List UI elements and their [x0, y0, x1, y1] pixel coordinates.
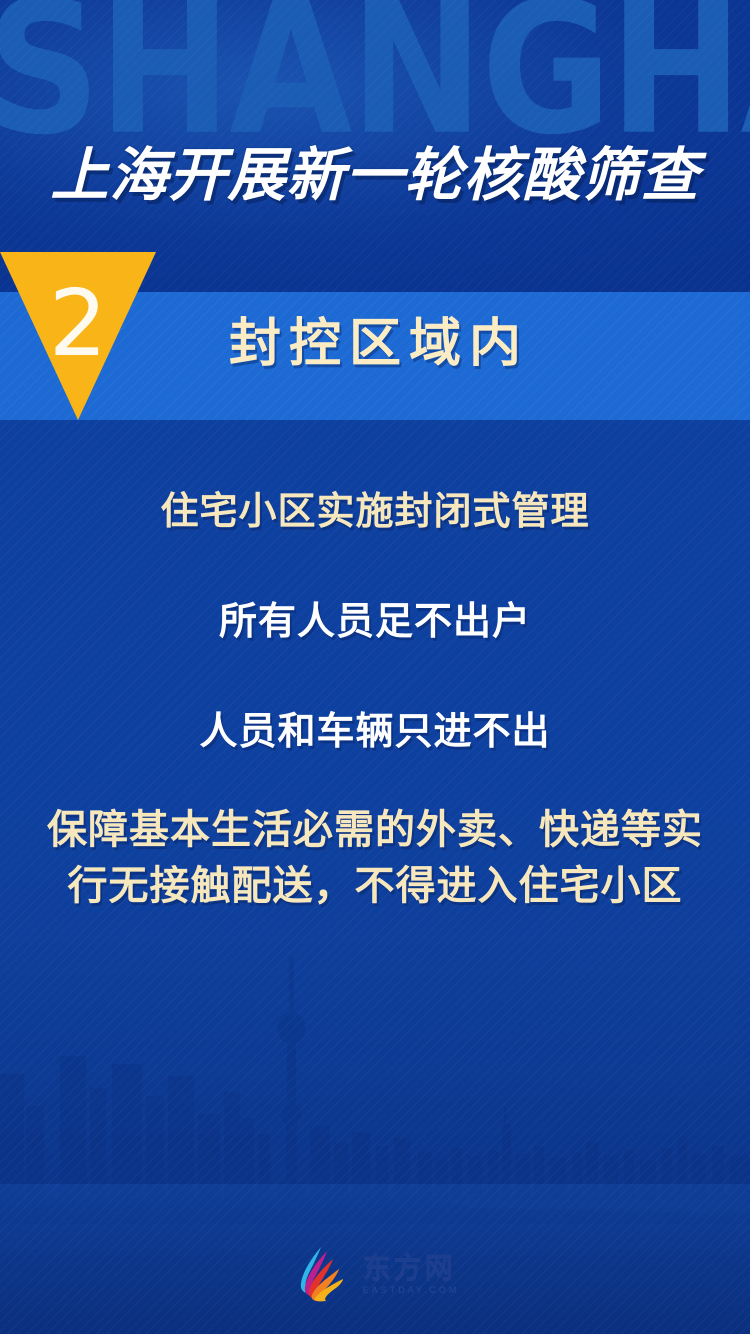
rule-item-1: 住宅小区实施封闭式管理 — [0, 488, 750, 534]
rule-item-4: 保障基本生活必需的外卖、快递等实行无接触配送，不得进入住宅小区 — [0, 802, 750, 914]
section-number-label: 2 — [0, 274, 156, 374]
rule-item-3: 人员和车辆只进不出 — [0, 708, 750, 754]
footer-logo-area: 东方网 EASTDAY.COM — [0, 1214, 750, 1334]
poster-header: SHANGHAI 上海开展新一轮核酸筛查 — [0, 0, 750, 292]
eastday-logo[interactable]: 东方网 EASTDAY.COM — [291, 1245, 460, 1303]
eastday-logo-text: 东方网 EASTDAY.COM — [363, 1254, 460, 1295]
section-number-badge: 2 — [0, 252, 156, 420]
eastday-logo-cn: 东方网 — [363, 1254, 456, 1282]
rule-item-2: 所有人员足不出户 — [0, 598, 750, 644]
eastday-logo-en: EASTDAY.COM — [363, 1286, 460, 1295]
poster-root: SHANGHAI 上海开展新一轮核酸筛查 封控区域内 2 — [0, 0, 750, 1334]
page-title: 上海开展新一轮核酸筛查 — [0, 142, 750, 208]
poster-body: 住宅小区实施封闭式管理 所有人员足不出户 人员和车辆只进不出 保障基本生活必需的… — [0, 420, 750, 1334]
shanghai-watermark-text: SHANGHAI — [0, 0, 750, 161]
eastday-swoosh-icon — [291, 1245, 353, 1303]
